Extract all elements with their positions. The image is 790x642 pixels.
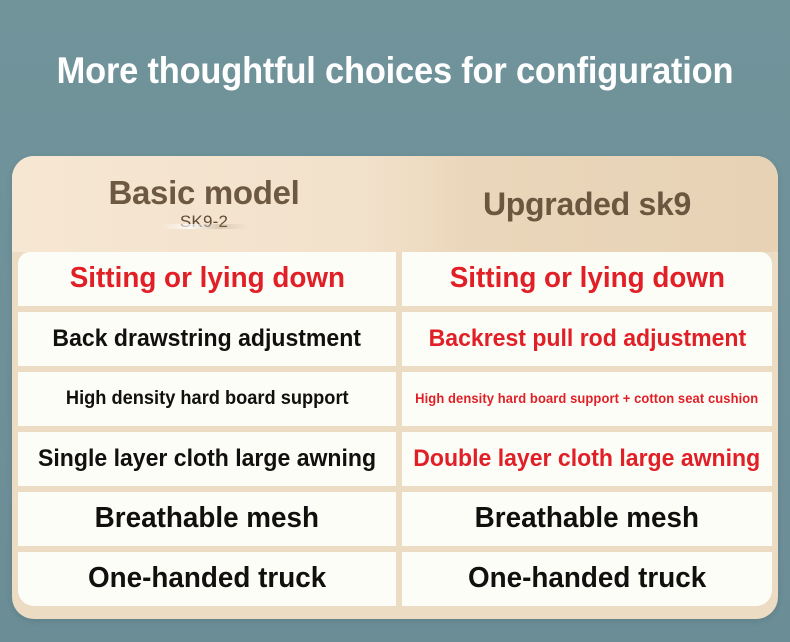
feature-cell-upgraded: Double layer cloth large awning [402, 432, 772, 486]
feature-text: Double layer cloth large awning [414, 446, 761, 472]
header-column-upgraded: Upgraded sk9 [396, 156, 778, 252]
feature-text: Single layer cloth large awning [38, 446, 376, 472]
feature-cell-upgraded: High density hard board support + cotton… [402, 372, 772, 426]
comparison-card: Basic model SK9-2 Upgraded sk9 Sitting o… [12, 156, 778, 619]
feature-cell-basic: Sitting or lying down [18, 252, 396, 306]
table-row: High density hard board support High den… [18, 372, 772, 426]
feature-text: High density hard board support [66, 389, 349, 410]
comparison-header: Basic model SK9-2 Upgraded sk9 [12, 156, 778, 252]
feature-text: Sitting or lying down [69, 263, 344, 294]
feature-cell-basic: Single layer cloth large awning [18, 432, 396, 486]
header-column-basic: Basic model SK9-2 [12, 156, 396, 252]
feature-text: One-handed truck [468, 563, 706, 594]
feature-cell-upgraded: One-handed truck [402, 552, 772, 606]
feature-cell-basic: Back drawstring adjustment [18, 312, 396, 366]
page-title: More thoughtful choices for configuratio… [28, 50, 763, 92]
table-row: Sitting or lying down Sitting or lying d… [18, 252, 772, 306]
feature-cell-upgraded: Backrest pull rod adjustment [402, 312, 772, 366]
table-row: One-handed truck One-handed truck [18, 552, 772, 606]
feature-cell-upgraded: Sitting or lying down [402, 252, 772, 306]
feature-text: Backrest pull rod adjustment [428, 326, 746, 352]
table-row: Back drawstring adjustment Backrest pull… [18, 312, 772, 366]
feature-text: Breathable mesh [95, 503, 319, 534]
promo-comparison-page: More thoughtful choices for configuratio… [0, 0, 790, 642]
feature-cell-basic: High density hard board support [18, 372, 396, 426]
feature-text: Back drawstring adjustment [53, 326, 362, 352]
feature-cell-upgraded: Breathable mesh [402, 492, 772, 546]
feature-text: Breathable mesh [475, 503, 699, 534]
comparison-grid: Sitting or lying down Sitting or lying d… [12, 252, 778, 612]
header-title-basic: Basic model [108, 176, 299, 211]
feature-text: High density hard board support + cotton… [415, 392, 758, 407]
feature-text: One-handed truck [88, 563, 326, 594]
table-row: Breathable mesh Breathable mesh [18, 492, 772, 546]
feature-cell-basic: Breathable mesh [18, 492, 396, 546]
header-subtitle-model-code: SK9-2 [180, 212, 228, 232]
feature-text: Sitting or lying down [449, 263, 724, 294]
header-title-upgraded: Upgraded sk9 [483, 188, 691, 222]
feature-cell-basic: One-handed truck [18, 552, 396, 606]
table-row: Single layer cloth large awning Double l… [18, 432, 772, 486]
